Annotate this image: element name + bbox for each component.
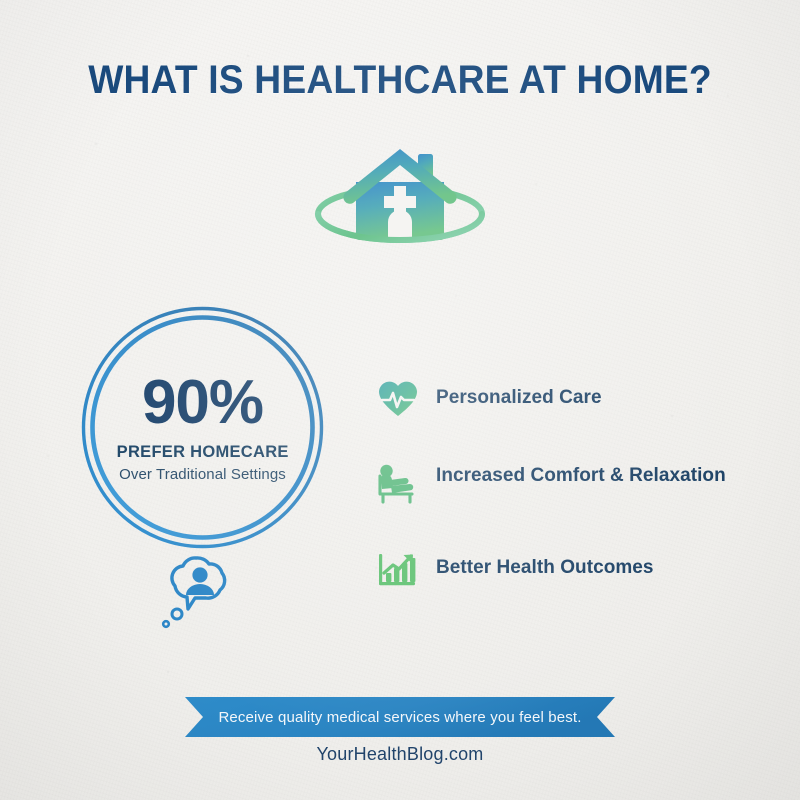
bubble-trail-small (163, 621, 169, 627)
benefits-list: Personalized Care (378, 378, 758, 590)
person-head (192, 567, 207, 582)
person-reclining-chair-icon (378, 463, 422, 505)
infographic-poster: WHAT IS HEALTHCARE AT HOME? (0, 0, 800, 800)
house-door (388, 210, 412, 240)
thought-bubble (155, 552, 245, 640)
benefit-item: Increased Comfort & Relaxation (378, 463, 758, 505)
stat-circle: 90% PREFER HOMECARE Over Traditional Set… (80, 305, 325, 550)
benefit-item: Better Health Outcomes (378, 548, 758, 590)
benefit-label: Personalized Care (422, 378, 602, 410)
stat-label: PREFER HOMECARE (116, 443, 288, 462)
page-title: WHAT IS HEALTHCARE AT HOME? (28, 58, 772, 103)
ribbon-label: Receive quality medical services where y… (185, 697, 615, 737)
stat-percent: 90% (142, 372, 263, 434)
heart-pulse-icon (378, 378, 422, 420)
bar-chart-growth-icon (378, 548, 422, 590)
website-url[interactable]: YourHealthBlog.com (0, 744, 800, 765)
footer-ribbon: Receive quality medical services where y… (185, 697, 615, 737)
house-body (343, 149, 456, 240)
house-with-medical-cross-icon (300, 136, 500, 261)
hero-illustration (300, 136, 500, 261)
bubble-cloud-outline (172, 558, 225, 609)
bubble-trail-large (172, 609, 182, 619)
benefit-label: Increased Comfort & Relaxation (422, 463, 726, 488)
stat-sublabel: Over Traditional Settings (119, 466, 286, 483)
stat-circle-content: 90% PREFER HOMECARE Over Traditional Set… (80, 305, 325, 550)
person-thought-bubble-icon (155, 552, 245, 640)
benefit-label: Better Health Outcomes (422, 548, 654, 580)
person-shoulders (186, 584, 214, 595)
benefit-item: Personalized Care (378, 378, 758, 420)
